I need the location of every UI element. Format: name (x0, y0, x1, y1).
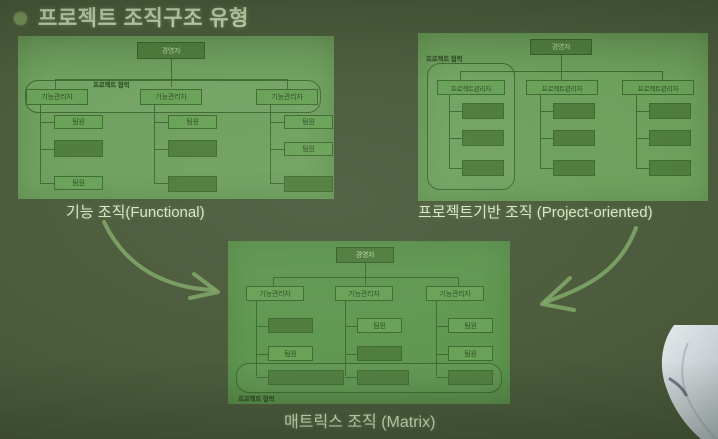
caption-project-oriented: 프로젝트기반 조직 (Project-oriented) (418, 201, 653, 222)
caption-matrix: 매트릭스 조직 (Matrix) (284, 408, 435, 432)
node-team-member (553, 130, 595, 146)
presenter-figure (604, 325, 718, 439)
connector (270, 105, 271, 184)
connector (449, 168, 462, 169)
connector (561, 55, 562, 83)
node-team-member (462, 130, 504, 146)
node-team-member: 팀원 (54, 176, 103, 190)
node-team-member (168, 176, 217, 192)
connector (256, 326, 268, 327)
node-boss: 경영자 (530, 39, 592, 55)
node-boss: 경영자 (137, 42, 205, 59)
connector (273, 277, 458, 278)
connector (540, 168, 553, 169)
connector (449, 138, 462, 139)
node-functional-manager: 기능관리자 (426, 286, 484, 301)
node-functional-manager: 기능관리자 (26, 89, 88, 105)
node-team-member: 팀원 (448, 318, 493, 333)
connector (636, 138, 649, 139)
collaboration-label: 프로젝트 협력 (93, 79, 129, 89)
node-team-member (649, 130, 691, 146)
node-team-member (462, 160, 504, 176)
connector (636, 95, 637, 169)
connector (436, 326, 448, 327)
node-team-member (553, 103, 595, 119)
connector (365, 263, 366, 285)
connector (154, 122, 168, 123)
connector (270, 183, 284, 184)
node-team-member: 팀원 (168, 115, 217, 129)
node-team-member (357, 346, 402, 361)
node-team-member (268, 318, 313, 333)
connector (436, 354, 448, 355)
connector (636, 168, 649, 169)
node-team-member (553, 160, 595, 176)
node-team-member: 팀원 (284, 115, 333, 129)
node-project-manager: 프로젝트관리자 (526, 80, 598, 95)
slide-stage: 프로젝트 조직구조 유형 경영자 프로젝트 협력 기능관리자 기능관리자 기능관… (0, 0, 718, 439)
collaboration-label: 프로젝트 협력 (426, 53, 462, 63)
connector (154, 149, 168, 150)
node-team-member (284, 176, 333, 192)
collaboration-boundary (236, 363, 502, 393)
node-team-member (54, 140, 103, 157)
connector (540, 111, 553, 112)
connector (256, 354, 268, 355)
node-team-member: 팀원 (357, 318, 402, 333)
node-team-member (462, 103, 504, 119)
node-team-member: 팀원 (448, 346, 493, 361)
connector (345, 354, 357, 355)
node-team-member (168, 140, 217, 157)
node-functional-manager: 기능관리자 (246, 286, 304, 301)
node-boss: 경영자 (336, 247, 394, 263)
node-team-member (649, 160, 691, 176)
node-functional-manager: 기능관리자 (256, 89, 318, 105)
page-title-label: 프로젝트 조직구조 유형 (38, 2, 249, 32)
collaboration-label: 프로젝트 협력 (238, 393, 274, 403)
diagram-functional: 경영자 프로젝트 협력 기능관리자 기능관리자 기능관리자 팀원 팀원 팀원 (18, 36, 334, 199)
node-project-manager: 프로젝트관리자 (622, 80, 694, 95)
bullet-dot-icon (14, 12, 27, 25)
connector (270, 149, 284, 150)
diagram-project-oriented: 경영자 프로젝트 협력 프로젝트관리자 프로젝트관리자 프로젝트관리자 (418, 33, 708, 201)
connector (449, 111, 462, 112)
arrow-functional-to-matrix (96, 216, 246, 306)
connector (540, 138, 553, 139)
connector (154, 183, 168, 184)
node-team-member: 팀원 (54, 115, 103, 129)
connector (40, 105, 41, 184)
arrow-project-to-matrix (520, 222, 650, 314)
connector (449, 95, 450, 169)
connector (540, 95, 541, 169)
node-team-member: 팀원 (284, 142, 333, 156)
diagram-matrix: 경영자 기능관리자 기능관리자 기능관리자 팀원 팀원 팀원 팀원 (228, 241, 510, 404)
connector (345, 326, 357, 327)
page-title: 프로젝트 조직구조 유형 (14, 2, 249, 32)
connector (40, 122, 54, 123)
connector (270, 122, 284, 123)
node-project-manager: 프로젝트관리자 (437, 80, 505, 95)
node-functional-manager: 기능관리자 (335, 286, 393, 301)
connector (154, 105, 155, 184)
connector (40, 149, 54, 150)
node-team-member: 팀원 (268, 346, 313, 361)
connector (636, 111, 649, 112)
node-functional-manager: 기능관리자 (140, 89, 202, 105)
connector (40, 183, 54, 184)
node-team-member (649, 103, 691, 119)
